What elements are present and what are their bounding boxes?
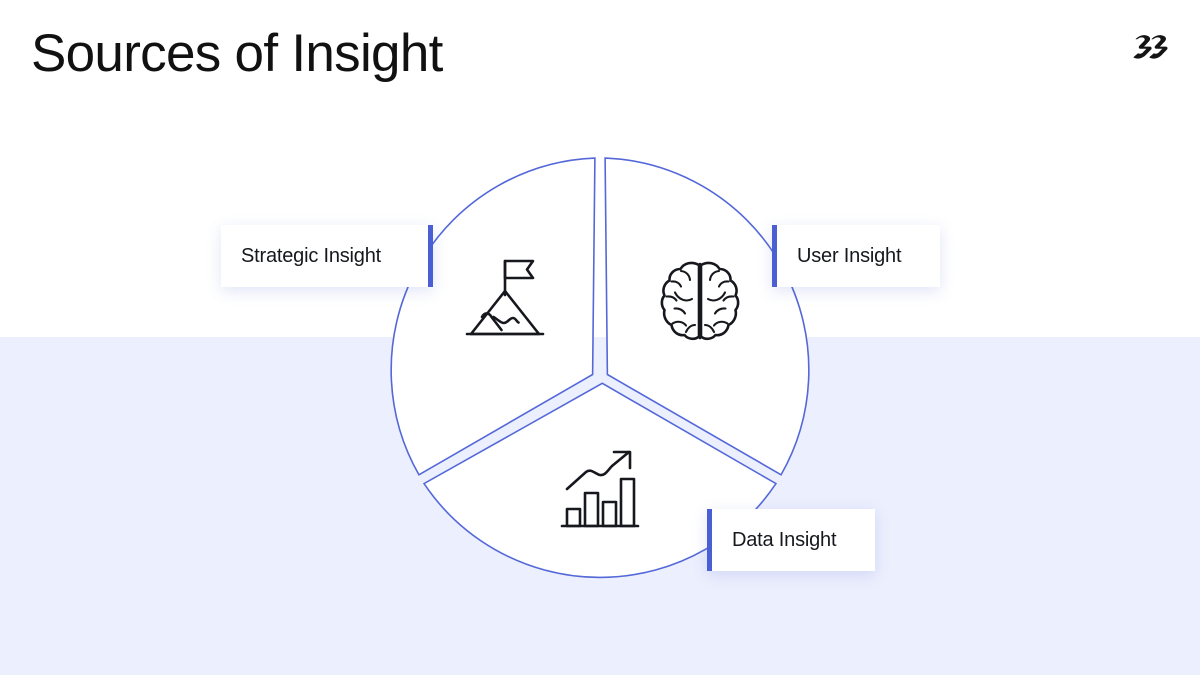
segmented-circle-diagram [0,0,1200,675]
label-user-insight[interactable]: User Insight [772,225,940,287]
label-user-insight-text: User Insight [797,244,901,268]
label-data-insight-text: Data Insight [732,528,836,552]
label-strategic-insight[interactable]: Strategic Insight [221,225,433,287]
label-data-insight[interactable]: Data Insight [707,509,875,571]
label-strategic-insight-text: Strategic Insight [241,244,381,268]
slide-canvas: Sources of Insight [0,0,1200,675]
